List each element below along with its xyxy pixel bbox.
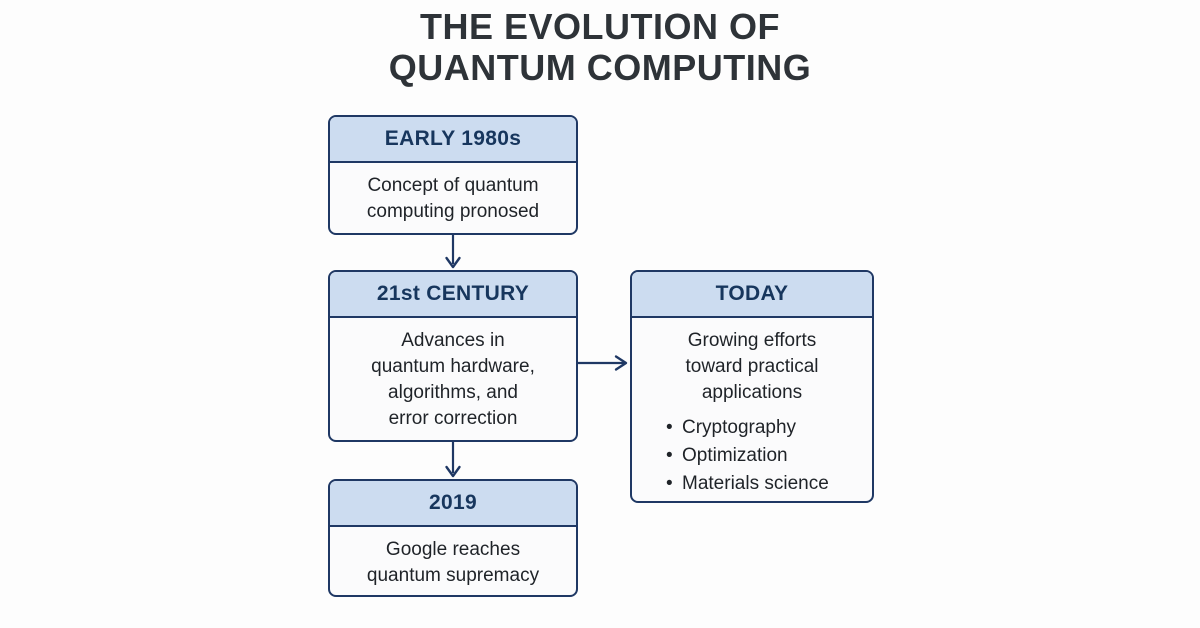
- node-21st-century-body-line-2: quantum hardware,: [342, 354, 564, 380]
- list-item: Materials science: [666, 470, 860, 498]
- page-title: THE EVOLUTION OF QUANTUM COMPUTING: [0, 6, 1200, 88]
- list-item: Cryptography: [666, 414, 860, 442]
- node-21st-century-body-line-1: Advances in: [342, 328, 564, 354]
- node-21st-century-header: 21st CENTURY: [330, 272, 576, 318]
- node-today-bullet-list: Cryptography Optimization Materials scie…: [644, 414, 860, 498]
- connector-21st-century-to-today: [578, 353, 632, 373]
- node-2019-header: 2019: [330, 481, 576, 527]
- node-today-body-line-3: applications: [644, 380, 860, 406]
- page-title-line-2: QUANTUM COMPUTING: [0, 47, 1200, 88]
- node-2019-body-line-1: Google reaches: [342, 537, 564, 563]
- node-today-body-line-2: toward practical: [644, 354, 860, 380]
- node-early-1980s-header: EARLY 1980s: [330, 117, 576, 163]
- node-21st-century-body-line-4: error correction: [342, 406, 564, 432]
- node-2019-body-line-2: quantum supremacy: [342, 563, 564, 589]
- node-early-1980s[interactable]: EARLY 1980s Concept of quantum computing…: [328, 115, 578, 235]
- node-2019-body: Google reaches quantum supremacy: [330, 527, 576, 597]
- page-title-line-1: THE EVOLUTION OF: [0, 6, 1200, 47]
- node-2019[interactable]: 2019 Google reaches quantum supremacy: [328, 479, 578, 597]
- list-item: Optimization: [666, 442, 860, 470]
- node-early-1980s-body-line-2: computing pronosed: [342, 199, 564, 225]
- node-today-body: Growing efforts toward practical applica…: [632, 318, 872, 503]
- node-early-1980s-body-line-1: Concept of quantum: [342, 173, 564, 199]
- node-21st-century-body: Advances in quantum hardware, algorithms…: [330, 318, 576, 442]
- connector-early-1980s-to-21st-century: [443, 235, 463, 271]
- node-21st-century[interactable]: 21st CENTURY Advances in quantum hardwar…: [328, 270, 578, 442]
- node-today-header: TODAY: [632, 272, 872, 318]
- node-21st-century-body-line-3: algorithms, and: [342, 380, 564, 406]
- diagram-canvas: THE EVOLUTION OF QUANTUM COMPUTING EARLY…: [0, 0, 1200, 628]
- node-early-1980s-body: Concept of quantum computing pronosed: [330, 163, 576, 235]
- connector-21st-century-to-2019: [443, 442, 463, 480]
- node-today[interactable]: TODAY Growing efforts toward practical a…: [630, 270, 874, 503]
- node-today-body-line-1: Growing efforts: [644, 328, 860, 354]
